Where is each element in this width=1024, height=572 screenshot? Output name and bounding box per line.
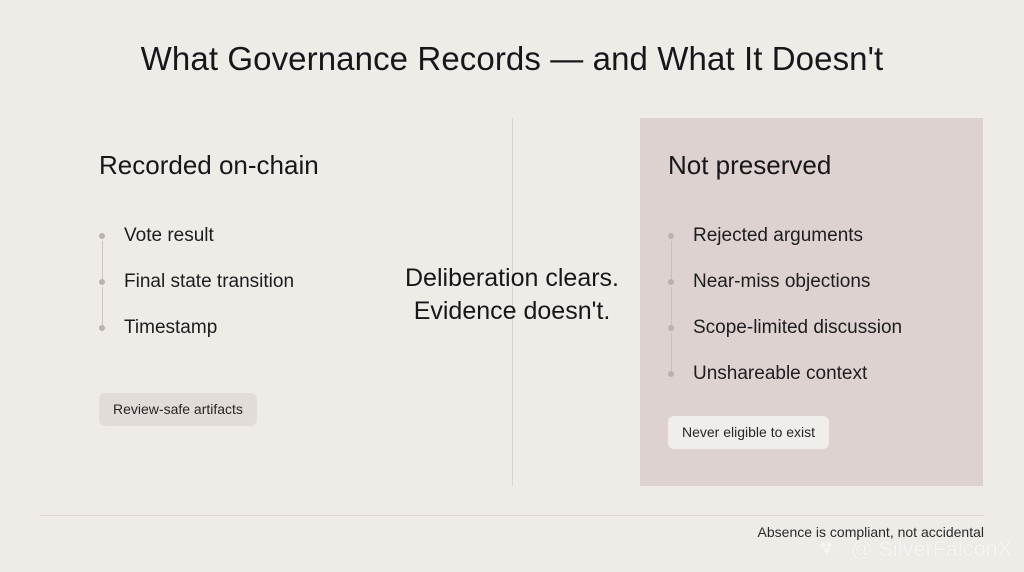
left-column-heading: Recorded on-chain [99, 150, 459, 181]
watermark: @ SilverFalconX [818, 538, 1012, 562]
list-item-label: Scope-limited discussion [693, 317, 902, 338]
recorded-on-chain-column: Recorded on-chain Vote result Final stat… [99, 118, 459, 367]
recorded-on-chain-list: Vote result Final state transition Times… [99, 213, 459, 351]
list-item: Unshareable context [668, 351, 988, 397]
list-item: Vote result [99, 213, 459, 259]
review-safe-artifacts-badge: Review-safe artifacts [99, 393, 257, 426]
footer-divider [40, 515, 984, 516]
list-item: Scope-limited discussion [668, 305, 988, 351]
not-preserved-list: Rejected arguments Near-miss objections … [668, 213, 988, 397]
right-column-heading: Not preserved [668, 150, 988, 181]
diamond-chevron-logo-icon [818, 539, 844, 561]
bullet-dot-icon [99, 325, 105, 331]
bullet-dot-icon [668, 325, 674, 331]
bullet-dot-icon [668, 233, 674, 239]
not-preserved-column: Not preserved Rejected arguments Near-mi… [668, 118, 988, 413]
list-item-label: Rejected arguments [693, 225, 863, 246]
watermark-handle: @ SilverFalconX [851, 538, 1012, 562]
never-eligible-to-exist-badge: Never eligible to exist [668, 416, 829, 449]
slide-canvas: What Governance Records — and What It Do… [0, 0, 1024, 572]
list-item: Near-miss objections [668, 259, 988, 305]
list-item: Timestamp [99, 305, 459, 351]
list-item-label: Unshareable context [693, 363, 867, 384]
list-item-label: Near-miss objections [693, 271, 870, 292]
footer-note: Absence is compliant, not accidental [758, 524, 984, 540]
bullet-dot-icon [99, 279, 105, 285]
list-item-label: Final state transition [124, 271, 294, 292]
list-item-label: Vote result [124, 225, 214, 246]
list-item: Final state transition [99, 259, 459, 305]
bullet-dot-icon [99, 233, 105, 239]
list-item: Rejected arguments [668, 213, 988, 259]
bullet-dot-icon [668, 279, 674, 285]
bullet-dot-icon [668, 371, 674, 377]
list-item-label: Timestamp [124, 317, 217, 338]
page-title: What Governance Records — and What It Do… [0, 40, 1024, 78]
